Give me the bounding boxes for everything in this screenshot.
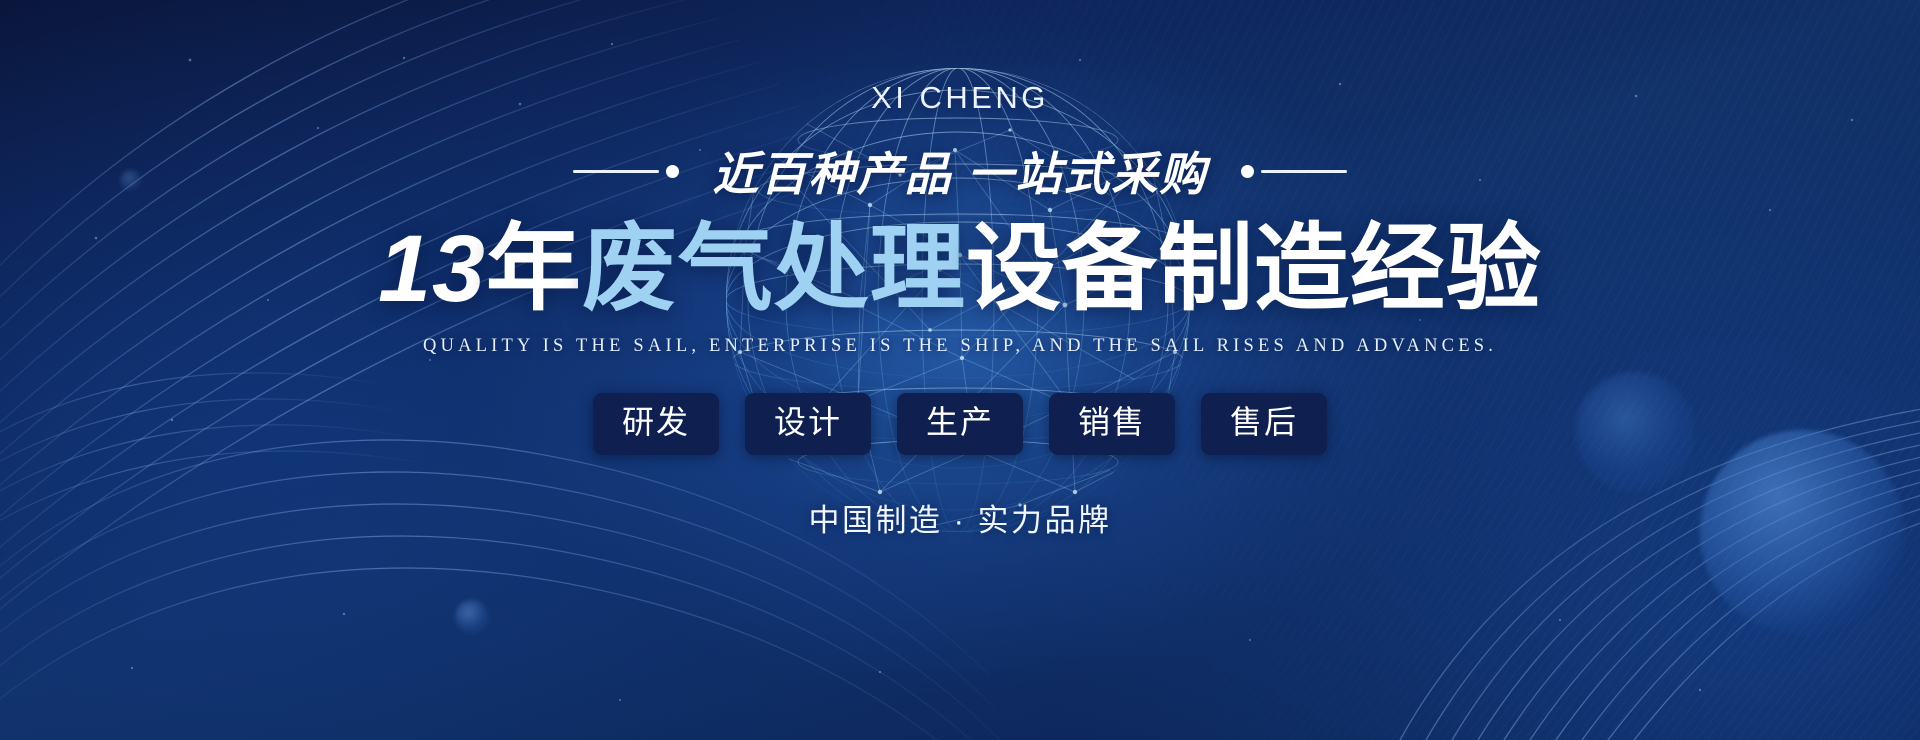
ornament-right-icon: [1241, 165, 1347, 178]
banner-content: XI CHENG 近百种产品 一站式采购 13年废气处理设备制造经验 QUALI…: [0, 0, 1920, 740]
service-pill-rd[interactable]: 研发: [593, 393, 719, 455]
banner-tagline-en: QUALITY IS THE SAIL, ENTERPRISE IS THE S…: [423, 336, 1497, 357]
banner-subtitle: 近百种产品 一站式采购: [679, 138, 1242, 204]
service-pill-aftersales[interactable]: 售后: [1201, 393, 1327, 455]
service-pill-production[interactable]: 生产: [897, 393, 1023, 455]
headline-unit: 年: [486, 216, 582, 322]
subtitle-row: 近百种产品 一站式采购: [573, 138, 1348, 204]
ornament-left-icon: [573, 165, 679, 178]
service-pill-design[interactable]: 设计: [745, 393, 871, 455]
banner-footline: 中国制造 · 实力品牌: [808, 495, 1111, 540]
headline-number: 13: [378, 216, 486, 322]
service-pill-sales[interactable]: 销售: [1049, 393, 1175, 455]
hero-banner: XI CHENG 近百种产品 一站式采购 13年废气处理设备制造经验 QUALI…: [0, 0, 1920, 740]
brand-name-en: XI CHENG: [871, 80, 1049, 116]
banner-headline: 13年废气处理设备制造经验: [378, 220, 1542, 320]
service-pill-list: 研发 设计 生产 销售 售后: [593, 393, 1327, 455]
headline-tail: 设备制造经验: [966, 216, 1542, 322]
headline-highlight: 废气处理: [582, 216, 966, 322]
